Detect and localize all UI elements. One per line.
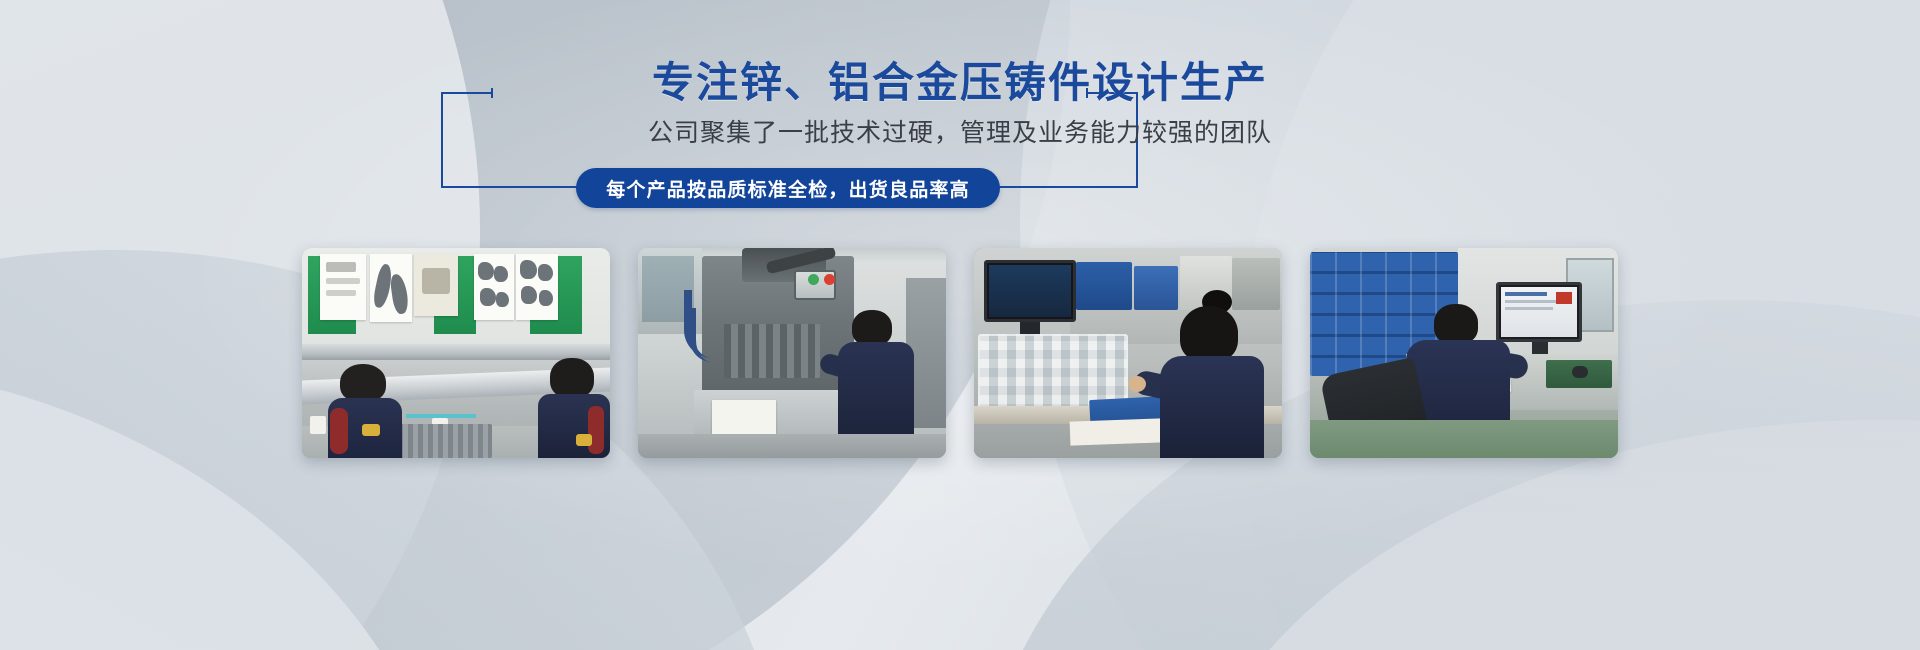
gallery-photo-packing-quality-check[interactable] bbox=[974, 248, 1282, 458]
photo-4-scene bbox=[1310, 248, 1618, 458]
gallery-photo-workshop-bench-inspection[interactable] bbox=[302, 248, 610, 458]
banner-subtitle: 公司聚集了一批技术过硬，管理及业务能力较强的团队 bbox=[0, 117, 1920, 150]
headline-group: 专注锌、铝合金压铸件设计生产 公司聚集了一批技术过硬，管理及业务能力较强的团队 … bbox=[0, 0, 1920, 230]
bracket-bottom-left-line bbox=[441, 186, 589, 188]
promo-banner: 专注锌、铝合金压铸件设计生产 公司聚集了一批技术过硬，管理及业务能力较强的团队 … bbox=[0, 0, 1920, 650]
photo-3-scene bbox=[974, 248, 1282, 458]
photo-1-scene bbox=[302, 248, 610, 458]
banner-title: 专注锌、铝合金压铸件设计生产 bbox=[0, 62, 1920, 104]
bracket-bottom-right-line bbox=[990, 186, 1138, 188]
gallery-photo-office-workstation-records[interactable] bbox=[1310, 248, 1618, 458]
photo-gallery bbox=[0, 248, 1920, 463]
gallery-photo-die-casting-machine-operation[interactable] bbox=[638, 248, 946, 458]
photo-2-scene bbox=[638, 248, 946, 458]
quality-badge: 每个产品按品质标准全检，出货良品率高 bbox=[576, 168, 1000, 208]
